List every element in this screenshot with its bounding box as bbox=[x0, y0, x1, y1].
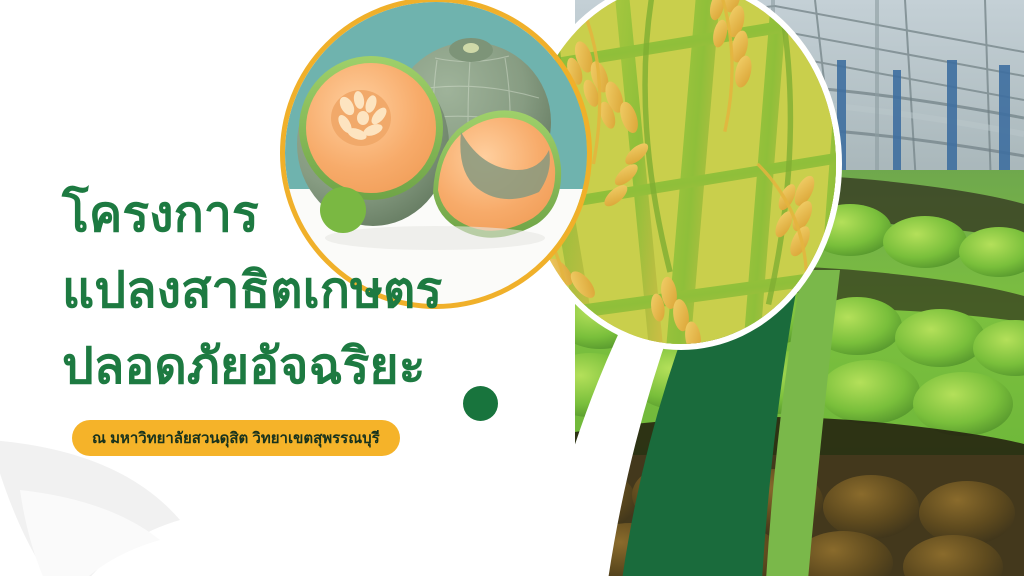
page-title: โครงการ แปลงสาธิตเกษตร ปลอดภัยอัจฉริยะ bbox=[62, 176, 532, 404]
title-line-3: ปลอดภัยอัจฉริยะ bbox=[62, 328, 532, 404]
title-line-1: โครงการ bbox=[62, 176, 532, 252]
title-line-2: แปลงสาธิตเกษตร bbox=[62, 252, 532, 328]
location-badge: ณ มหาวิทยาลัยสวนดุสิต วิทยาเขตสุพรรณบุรี bbox=[72, 420, 400, 456]
presentation-slide: โครงการ แปลงสาธิตเกษตร ปลอดภัยอัจฉริยะ ณ… bbox=[0, 0, 1024, 576]
